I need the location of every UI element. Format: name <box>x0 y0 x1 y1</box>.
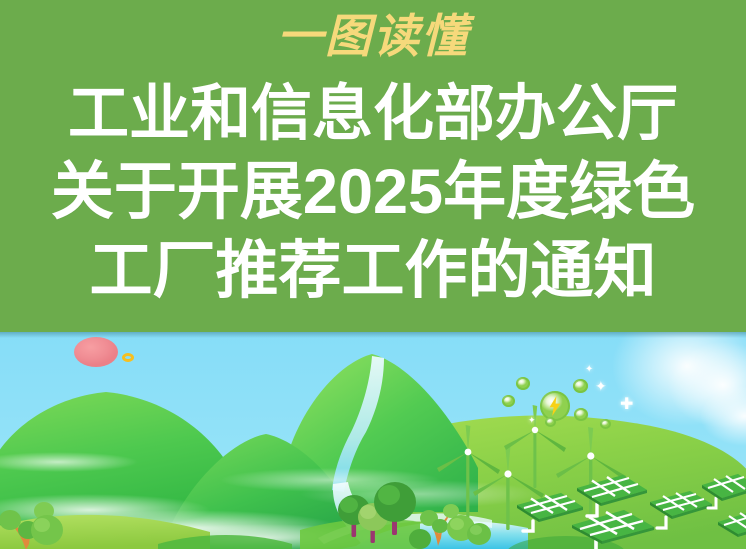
sparkle-plus-icon: ✚ <box>620 398 633 411</box>
sparkle-icon: ✦ <box>585 363 593 376</box>
eco-leaf-bubble-icon <box>516 377 530 390</box>
eco-leaf-bubble-icon <box>545 417 556 427</box>
page-title: 工业和信息化部办公厅 关于开展2025年度绿色 工厂推荐工作的通知 <box>0 74 746 311</box>
title-line-1: 工业和信息化部办公厅 <box>0 74 746 153</box>
tree-icon <box>408 526 432 549</box>
eco-leaf-bubble-icon <box>600 419 611 429</box>
eco-leaf-bubble-icon <box>502 395 515 407</box>
tree-icon <box>30 512 64 549</box>
tree-icon <box>466 520 492 549</box>
sparkle-icon: ✦ <box>528 414 536 427</box>
infographic-poster: ✦ ✚ ✦ ✦ <box>0 0 746 549</box>
title-banner: 一图读懂 工业和信息化部办公厅 关于开展2025年度绿色 工厂推荐工作的通知 <box>0 0 746 332</box>
solar-panel-icon <box>570 505 656 549</box>
sparkle-icon: ✦ <box>595 380 607 393</box>
sun-icon <box>74 337 118 367</box>
ring-decoration-icon <box>122 353 134 362</box>
eco-leaf-bubble-icon <box>573 379 588 393</box>
title-line-2: 关于开展2025年度绿色 <box>0 153 746 232</box>
solar-panel-icon <box>716 508 746 549</box>
kicker-label: 一图读懂 <box>0 8 746 64</box>
lightning-bolt-icon <box>549 396 561 416</box>
eco-leaf-bubble-icon <box>574 408 588 421</box>
banner-shadow <box>0 332 746 338</box>
title-line-3: 工厂推荐工作的通知 <box>0 232 746 311</box>
